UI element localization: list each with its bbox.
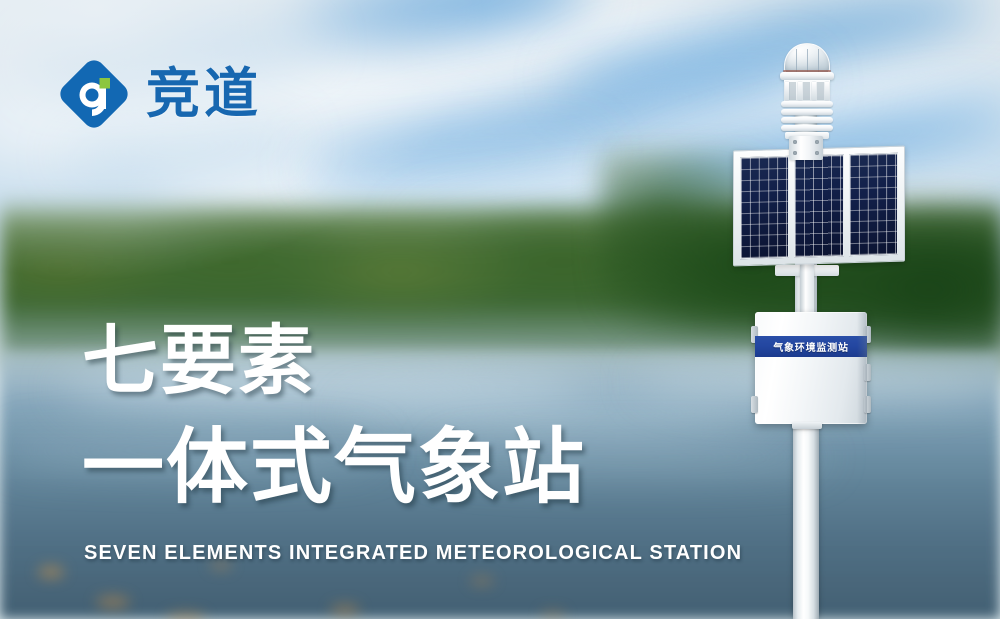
page-title: 七要素 一体式气象站 [82,322,586,511]
hero-banner: 竞道 七要素 一体式气象站 SEVEN ELEMENTS INTEGRATED … [0,0,1000,619]
title-line-2: 一体式气象站 [82,425,586,512]
brand-logo: 竞道 [58,58,262,130]
title-line-1: 七要素 [82,322,586,403]
page-subtitle: SEVEN ELEMENTS INTEGRATED METEOROLOGICAL… [84,542,742,565]
jingdao-diamond-logo-icon [58,58,130,130]
brand-name: 竞道 [146,67,262,121]
